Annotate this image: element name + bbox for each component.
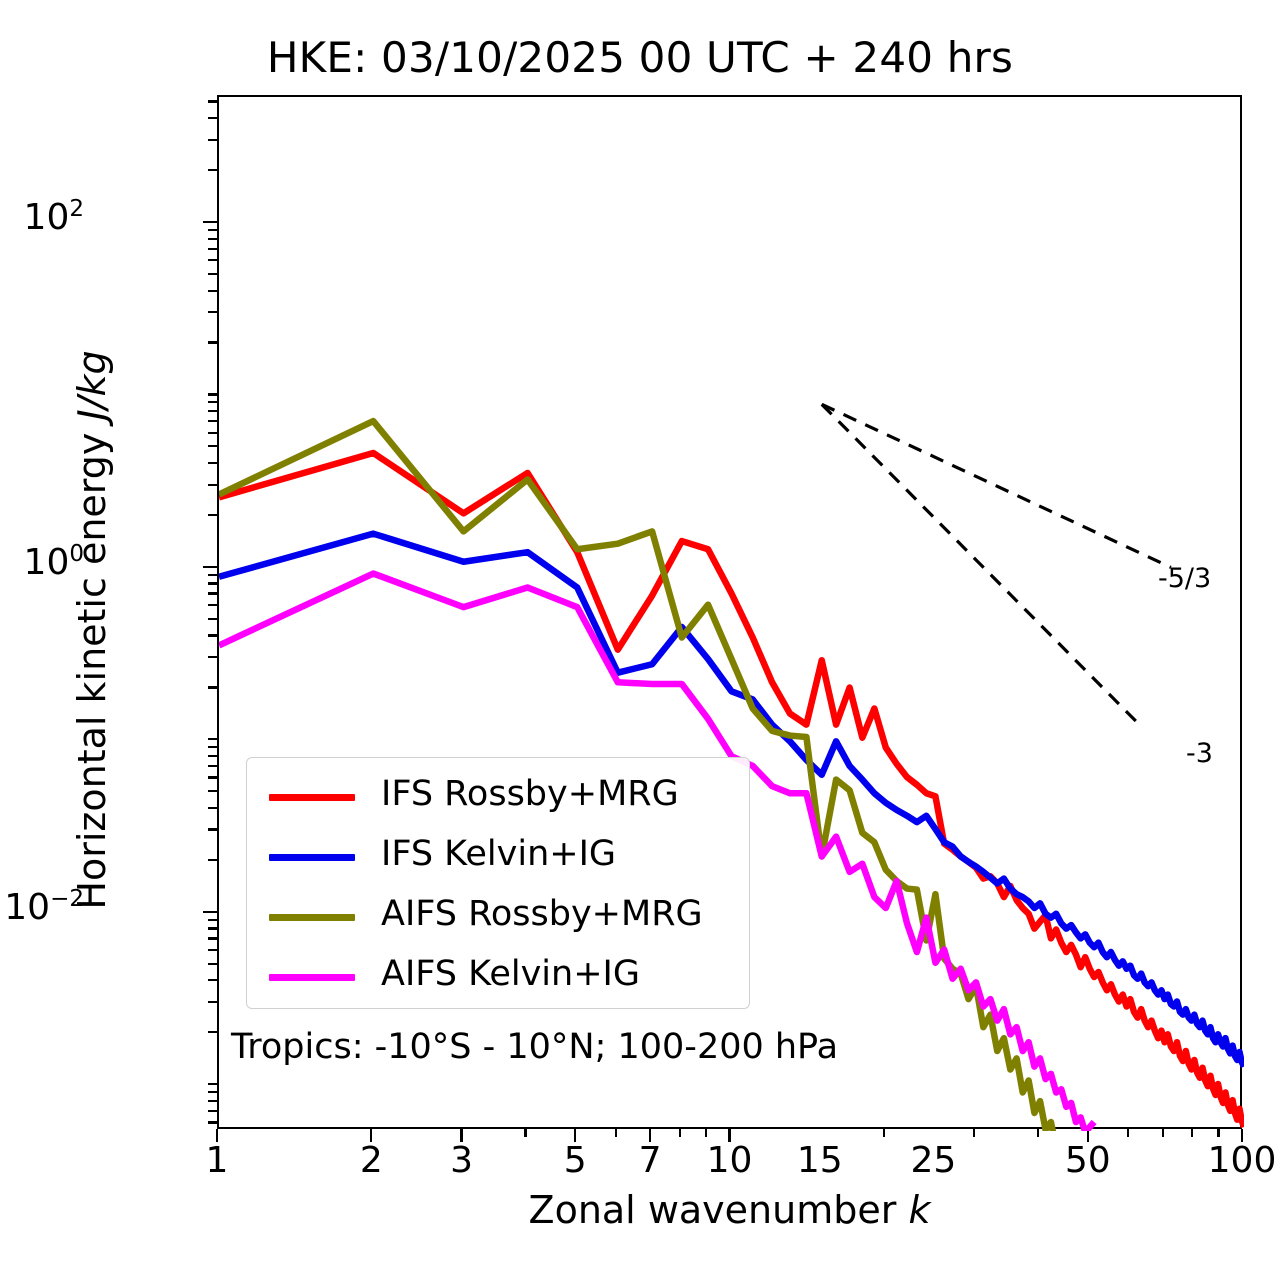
tickmark: [208, 248, 217, 250]
legend-item-label: AIFS Rossby+MRG: [381, 894, 703, 934]
tickmark: [208, 410, 217, 412]
tickmark: [208, 979, 217, 981]
x-tick-label-9: 100: [1208, 1140, 1277, 1181]
legend-item-2[interactable]: AIFS Rossby+MRG: [247, 886, 751, 949]
legend-item-label: IFS Rossby+MRG: [381, 774, 679, 814]
tickmark: [208, 604, 217, 606]
tickmark: [203, 911, 217, 913]
tickmark: [203, 566, 217, 568]
tickmark: [208, 592, 217, 594]
tickmark: [208, 1001, 217, 1003]
tickmark: [208, 259, 217, 261]
x-tick-label-1: 2: [360, 1140, 383, 1181]
tickmark: [208, 656, 217, 658]
figure-canvas: HKE: 03/10/2025 00 UTC + 240 hrs Horizon…: [0, 0, 1280, 1288]
tickmark: [208, 574, 217, 576]
tickmark: [208, 686, 217, 688]
tickmark: [208, 514, 217, 516]
x-tick-label-5: 10: [707, 1140, 753, 1181]
tickmark: [208, 1083, 217, 1085]
x-axis-label-text: Zonal wavenumber: [529, 1188, 909, 1232]
x-axis-label-symbol: k: [908, 1188, 930, 1232]
tickmark: [208, 401, 217, 403]
y-axis-label-container: Horizontal kinetic energy J/kg: [22, 0, 92, 1288]
tickmark: [208, 807, 217, 809]
tickmark: [208, 949, 217, 951]
legend-color-swatch: [269, 854, 355, 861]
tickmark: [208, 420, 217, 422]
x-tick-label-3: 5: [564, 1140, 587, 1181]
tickmark: [208, 311, 217, 313]
legend-item-label: AIFS Kelvin+IG: [381, 954, 640, 994]
reference-line--5-3: [822, 404, 1171, 567]
legend-box[interactable]: IFS Rossby+MRGIFS Kelvin+IGAIFS Rossby+M…: [246, 757, 750, 1009]
reference-line-label-1: -3: [1186, 738, 1213, 769]
tickmark: [208, 790, 217, 792]
legend-color-swatch: [269, 914, 355, 921]
legend-item-label: IFS Kelvin+IG: [381, 834, 616, 874]
tickmark: [208, 1121, 217, 1123]
tickmark: [208, 582, 217, 584]
tickmark: [208, 139, 217, 141]
tickmark: [208, 776, 217, 778]
tickmark: [208, 618, 217, 620]
tickmark: [208, 859, 217, 861]
y-tick-label-0: 102: [24, 196, 84, 238]
x-tick-label-4: 7: [639, 1140, 662, 1181]
legend-color-swatch: [269, 974, 355, 981]
tickmark: [208, 1031, 217, 1033]
tickmark: [208, 169, 217, 171]
tickmark: [208, 634, 217, 636]
tickmark: [208, 462, 217, 464]
reference-line-label-0: -5/3: [1158, 563, 1211, 594]
tickmark: [208, 393, 217, 395]
tickmark: [208, 229, 217, 231]
tickmark: [208, 100, 217, 102]
x-axis-label: Zonal wavenumber k: [217, 1188, 1242, 1232]
x-tick-label-7: 25: [911, 1140, 957, 1181]
tickmark: [208, 755, 217, 757]
y-axis-label-unit: J/kg: [70, 350, 114, 420]
tickmark: [208, 238, 217, 240]
legend-item-1[interactable]: IFS Kelvin+IG: [247, 826, 751, 889]
reference-line--3: [822, 404, 1141, 726]
tickmark: [208, 117, 217, 119]
reference-slope-lines: [822, 404, 1171, 726]
y-axis-label-text: Horizontal kinetic energy: [70, 421, 114, 910]
tickmark: [208, 1091, 217, 1093]
tickmark: [208, 341, 217, 343]
tickmark: [208, 273, 217, 275]
tickmark: [208, 738, 217, 740]
tickmark: [208, 765, 217, 767]
tickmark: [208, 963, 217, 965]
tickmark: [208, 927, 217, 929]
x-tick-label-6: 15: [797, 1140, 843, 1181]
x-tick-label-8: 50: [1065, 1140, 1111, 1181]
tickmark: [208, 919, 217, 921]
tickmark: [208, 432, 217, 434]
tickmark: [208, 937, 217, 939]
legend-item-0[interactable]: IFS Rossby+MRG: [247, 766, 751, 829]
y-tick-label-1: 100: [24, 541, 84, 583]
page-title: HKE: 03/10/2025 00 UTC + 240 hrs: [0, 34, 1280, 82]
tickmark: [216, 1129, 218, 1142]
y-tick-label-2: 10−2: [4, 886, 84, 928]
tickmark: [203, 221, 217, 223]
region-annotation: Tropics: -10°S - 10°N; 100-200 hPa: [231, 1027, 838, 1067]
x-tick-label-0: 1: [206, 1140, 229, 1181]
tickmark: [208, 828, 217, 830]
tickmark: [208, 445, 217, 447]
tickmark: [208, 484, 217, 486]
tickmark: [208, 746, 217, 748]
tickmark: [208, 1100, 217, 1102]
y-axis-label: Horizontal kinetic energy J/kg: [70, 130, 114, 1130]
x-tick-label-2: 3: [450, 1140, 473, 1181]
tickmark: [208, 1110, 217, 1112]
legend-color-swatch: [269, 794, 355, 801]
legend-item-3[interactable]: AIFS Kelvin+IG: [247, 946, 751, 1009]
tickmark: [208, 290, 217, 292]
